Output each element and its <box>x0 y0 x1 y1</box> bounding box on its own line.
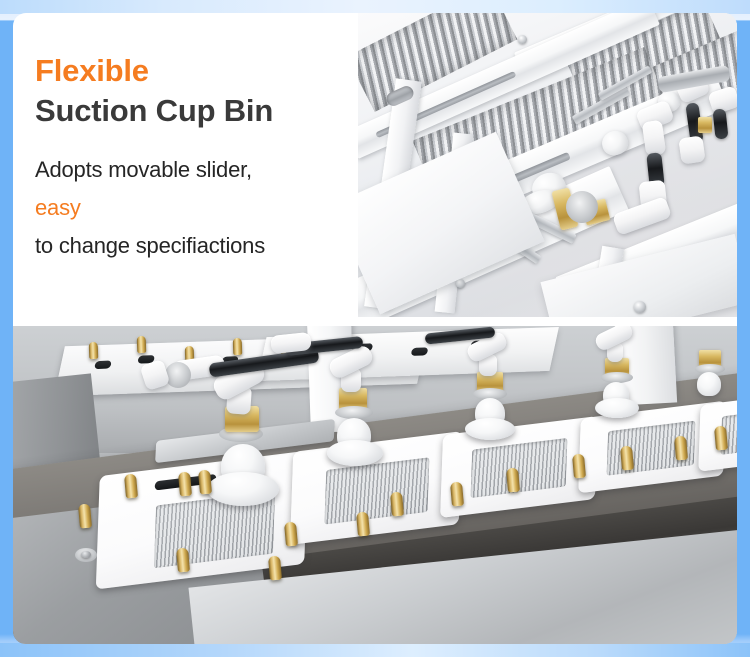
suction-cup-lip <box>207 472 279 506</box>
alignment-pin <box>620 446 634 471</box>
top-gradient-strip <box>0 0 750 14</box>
alignment-pin <box>178 472 192 497</box>
suction-cup-lip <box>327 440 383 466</box>
alignment-pin <box>450 482 464 507</box>
bottom-gradient-strip <box>0 643 750 657</box>
alignment-pin <box>572 454 586 479</box>
alignment-pin <box>268 556 282 581</box>
photo-suction-cup-pickup-station <box>13 326 737 644</box>
screw-icon <box>634 301 646 313</box>
suction-cup-lip <box>465 418 515 440</box>
screw-icon <box>518 35 527 44</box>
screw-icon <box>456 279 465 288</box>
text-panel: Flexible Suction Cup Bin Adopts movable … <box>35 51 365 265</box>
alignment-pin <box>356 512 370 537</box>
suction-cup-lip <box>595 398 639 418</box>
pneumatic-fitting-body <box>678 135 705 164</box>
headline-title: Suction Cup Bin <box>35 91 365 131</box>
feeder-hole <box>94 361 112 370</box>
content-card: Flexible Suction Cup Bin Adopts movable … <box>13 13 737 644</box>
alignment-pin <box>284 522 298 547</box>
alignment-pin <box>78 504 92 529</box>
alignment-pin <box>674 436 688 461</box>
alignment-pin <box>390 492 404 517</box>
subtext-line-1: Adopts movable slider, <box>35 151 365 189</box>
tube-collar <box>165 362 191 388</box>
feeder-hole <box>411 347 429 356</box>
alignment-pin <box>137 336 147 353</box>
headline-accent: Flexible <box>35 51 365 91</box>
alignment-pin <box>714 426 728 451</box>
brass-fitting <box>698 117 712 133</box>
alignment-pin <box>176 548 190 573</box>
blister-pocket <box>324 457 429 524</box>
alignment-pin <box>233 338 243 355</box>
alignment-pin <box>198 470 212 495</box>
subtext-block: Adopts movable slider, easy to change sp… <box>35 151 365 265</box>
alignment-pin <box>506 468 520 493</box>
subtext-line-3: to change specifiactions <box>35 227 365 265</box>
subtext-line-2-accent: easy <box>35 189 365 227</box>
page-frame: Flexible Suction Cup Bin Adopts movable … <box>0 0 750 657</box>
alignment-pin <box>124 474 138 499</box>
alignment-pin <box>89 342 99 359</box>
screw-icon <box>81 551 91 558</box>
suction-cup <box>697 372 721 396</box>
photo-suction-cup-bin-detail <box>358 13 737 317</box>
